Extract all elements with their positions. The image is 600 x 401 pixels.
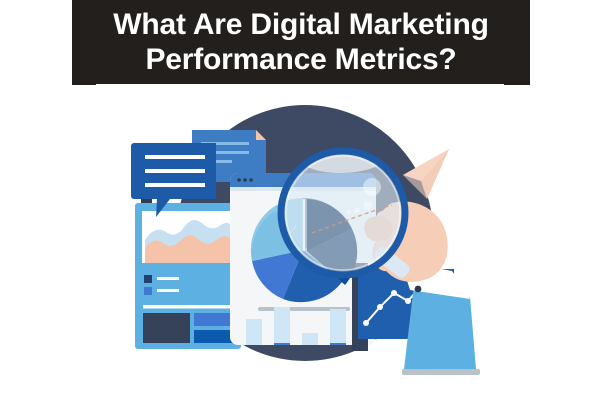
card-divider — [143, 305, 233, 309]
digital-marketing-analytics-illustration — [0, 85, 600, 401]
sleeve-shadow — [402, 369, 480, 375]
header-band: What Are Digital Marketing Performance M… — [72, 0, 530, 85]
card-tile-1[interactable] — [194, 313, 234, 326]
legend-line-2 — [157, 289, 179, 292]
page-root: What Are Digital Marketing Performance M… — [0, 0, 600, 401]
window-dot-1 — [237, 178, 241, 182]
illustration-stage — [0, 85, 600, 401]
dashboard-card[interactable] — [135, 198, 241, 349]
bar-fill-3 — [302, 362, 318, 379]
card-tile-2[interactable] — [194, 330, 234, 343]
window-dot-2 — [243, 178, 247, 182]
window-dot-3 — [249, 178, 253, 182]
legend-swatch-1 — [144, 275, 152, 283]
legend-swatch-2 — [144, 287, 152, 295]
card-tile-large[interactable] — [143, 313, 190, 343]
page-title: What Are Digital Marketing Performance M… — [72, 7, 530, 77]
cuff-button — [415, 286, 422, 293]
legend-line-1 — [157, 277, 179, 280]
